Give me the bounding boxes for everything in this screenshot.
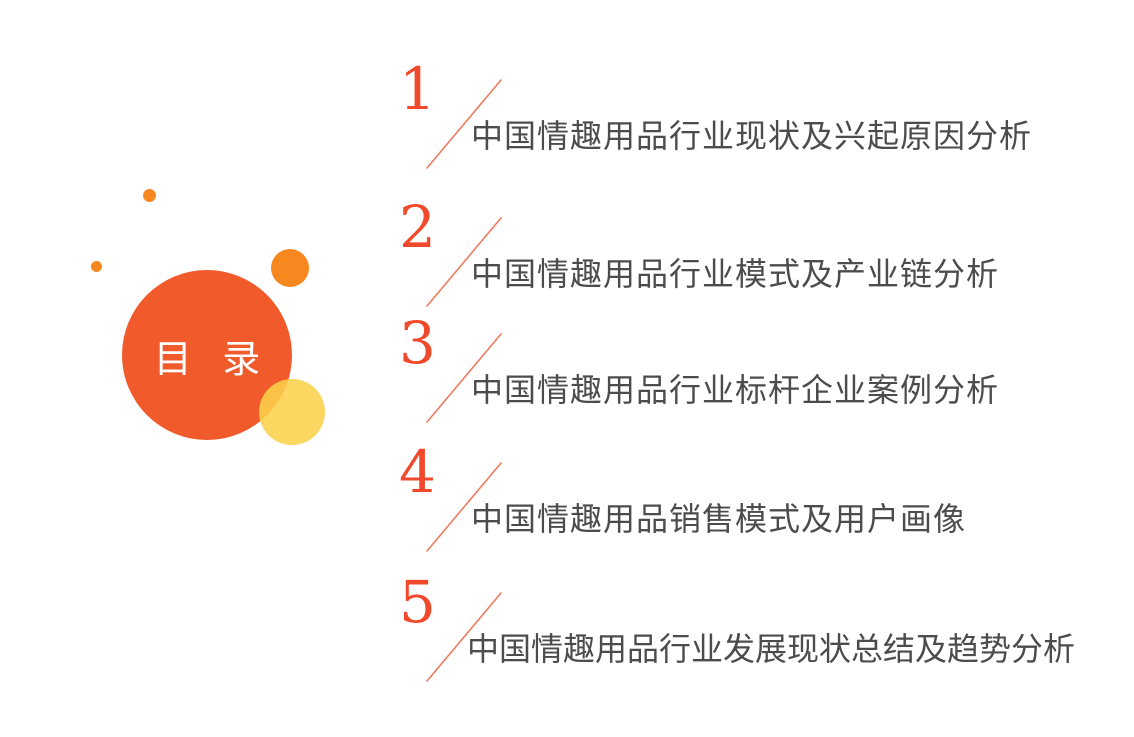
- agenda-slide: 目 录 1 中国情趣用品行业现状及兴起原因分析 2 中国情趣用品行业模式及产业链…: [0, 0, 1134, 737]
- toc-number-5: 5: [399, 573, 436, 631]
- toc-number-2: 2: [399, 198, 436, 256]
- toc-item-5[interactable]: 5 中国情趣用品行业发展现状总结及趋势分析: [385, 573, 1134, 705]
- agenda-title: 目 录: [122, 270, 292, 440]
- toc-item-1[interactable]: 1 中国情趣用品行业现状及兴起原因分析: [385, 60, 1134, 192]
- toc-number-4: 4: [399, 443, 436, 501]
- orange-small-dot-icon: [143, 189, 156, 202]
- toc-label-1: 中国情趣用品行业现状及兴起原因分析: [471, 116, 1032, 156]
- decorative-circle-cluster: 目 录: [0, 0, 400, 737]
- orange-tiny-dot-icon: [91, 261, 102, 272]
- toc-item-2[interactable]: 2 中国情趣用品行业模式及产业链分析: [385, 198, 1134, 330]
- toc-label-3: 中国情趣用品行业标杆企业案例分析: [471, 370, 999, 410]
- toc-label-5: 中国情趣用品行业发展现状总结及趋势分析: [467, 629, 1075, 669]
- toc-label-4: 中国情趣用品销售模式及用户画像: [471, 499, 966, 539]
- toc-number-3: 3: [399, 314, 436, 372]
- table-of-contents: 1 中国情趣用品行业现状及兴起原因分析 2 中国情趣用品行业模式及产业链分析 3…: [385, 0, 1134, 737]
- toc-label-2: 中国情趣用品行业模式及产业链分析: [471, 254, 999, 294]
- toc-item-4[interactable]: 4 中国情趣用品销售模式及用户画像: [385, 443, 1134, 575]
- toc-item-3[interactable]: 3 中国情趣用品行业标杆企业案例分析: [385, 314, 1134, 446]
- toc-number-1: 1: [399, 60, 436, 118]
